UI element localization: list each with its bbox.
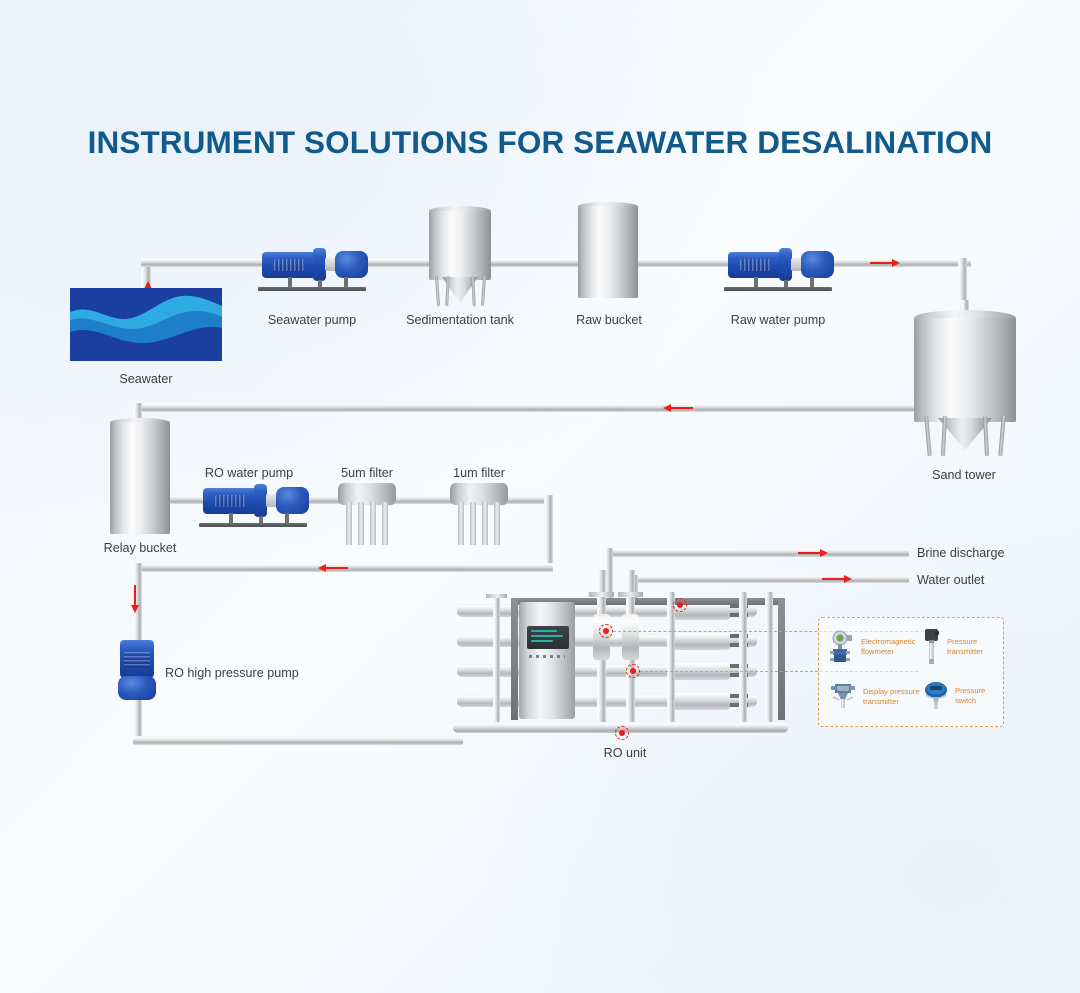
equipment-raw-bucket	[578, 202, 638, 298]
marker-ro-mid[interactable]	[626, 664, 640, 678]
bucket-body-icon	[578, 206, 638, 298]
ro-riser	[493, 594, 500, 724]
equipment-sand-tower	[912, 300, 1018, 458]
legend-item-pressure-transmitter[interactable]: Pressure transmitter	[923, 628, 983, 666]
equipment-label-relay-bucket: Relay bucket	[104, 541, 177, 555]
ro-riser	[667, 592, 675, 722]
output-label-water-outlet: Water outlet	[917, 573, 984, 587]
page-title: INSTRUMENT SOLUTIONS FOR SEAWATER DESALI…	[0, 124, 1080, 161]
filter-cartridges-icon	[455, 502, 504, 545]
ro-vessel-endcap	[670, 631, 732, 650]
legend-label-line2: transmitter	[947, 647, 983, 657]
arrow-filter-return	[318, 564, 348, 572]
equipment-ro-hp-pump	[118, 640, 158, 702]
tank-body-icon	[914, 318, 1016, 422]
tank-body-icon	[429, 211, 491, 280]
pressure-switch-icon	[923, 681, 949, 711]
arrow-sand-return	[663, 404, 693, 412]
marker-ro-top[interactable]	[673, 598, 687, 612]
pump-base	[258, 287, 366, 291]
output-label-brine-discharge: Brine discharge	[917, 546, 1005, 560]
equipment-label-sand-tower: Sand tower	[932, 468, 996, 482]
marker-ro-upper[interactable]	[599, 624, 613, 638]
pipe-hp-to-ro	[133, 736, 463, 745]
display-pressure-transmitter-icon	[829, 681, 857, 713]
equipment-label-ro-unit: RO unit	[604, 746, 647, 760]
tank-leg	[435, 276, 440, 306]
ro-riser	[739, 592, 747, 722]
arrow-raw-to-sand	[870, 259, 900, 267]
equipment-label-raw-water-pump: Raw water pump	[731, 313, 826, 327]
legend-label-line1: Pressure	[947, 637, 983, 647]
equipment-label-filter-1um: 1um filter	[453, 466, 505, 480]
equipment-filter-5um	[338, 483, 396, 545]
pump-motor-icon	[203, 488, 257, 514]
legend-label-line1: Pressure	[955, 686, 985, 696]
pipe-filter-down	[544, 495, 553, 568]
legend-item-electromagnetic-flowmeter[interactable]: Electromagnetic flowmeter	[829, 630, 915, 664]
pressure-transmitter-icon	[923, 628, 941, 666]
equipment-label-raw-bucket: Raw bucket	[576, 313, 642, 327]
legend-panel: Electromagnetic flowmeter Pressure trans…	[818, 617, 1004, 727]
pump-base	[199, 523, 307, 527]
legend-label-line2: flowmeter	[861, 647, 915, 657]
filter-cartridges-icon	[343, 502, 392, 545]
equipment-ro-unit	[455, 586, 795, 744]
equipment-raw-water-pump	[728, 246, 828, 291]
pipe-brine-discharge	[604, 548, 909, 557]
seawater-basin	[70, 288, 222, 361]
bucket-body-icon	[110, 422, 170, 534]
ro-display-screen	[527, 626, 569, 649]
legend-item-pressure-switch[interactable]: Pressure switch	[923, 681, 985, 711]
equipment-seawater-pump	[262, 246, 362, 291]
ro-vessel-endcap	[670, 691, 732, 710]
hp-pump-head-icon	[118, 676, 156, 700]
pipe-hp-pump-down	[133, 700, 142, 740]
equipment-label-filter-5um: 5um filter	[341, 466, 393, 480]
pump-head-icon	[276, 487, 309, 514]
pump-motor-icon	[728, 252, 782, 278]
hp-pump-body-icon	[120, 640, 154, 678]
ro-instrument-body	[622, 614, 639, 660]
pipe-sand-to-relay	[133, 403, 919, 412]
ro-riser	[765, 592, 773, 722]
electromagnetic-flowmeter-icon	[829, 630, 855, 664]
tank-leg	[481, 276, 486, 306]
equipment-label-seawater-pump: Seawater pump	[268, 313, 356, 327]
equipment-label-ro-hp-pump: RO high pressure pump	[165, 666, 299, 680]
equipment-sedimentation-tank	[428, 206, 492, 301]
equipment-relay-bucket	[110, 418, 170, 534]
ro-instrument-flange	[589, 592, 614, 597]
ro-indicator-lights	[529, 655, 565, 658]
diagram-canvas: INSTRUMENT SOLUTIONS FOR SEAWATER DESALI…	[0, 0, 1080, 993]
pump-base	[724, 287, 832, 291]
arrow-to-hp-pump	[131, 585, 139, 613]
tank-leg	[941, 416, 947, 456]
ro-instrument-flange	[618, 592, 643, 597]
seawater-waves-icon	[70, 288, 222, 361]
marker-ro-bottom[interactable]	[615, 726, 629, 740]
pump-head-icon	[801, 251, 834, 278]
arrow-brine	[798, 549, 828, 557]
ro-riser-flange	[486, 594, 507, 598]
legend-label-line1: Electromagnetic	[861, 637, 915, 647]
ro-frame-left	[511, 598, 518, 720]
equipment-label-sedimentation-tank: Sedimentation tank	[406, 313, 514, 327]
pump-motor-icon	[262, 252, 316, 278]
pipe-filter5-to-filter1	[392, 495, 458, 504]
ro-frame-right	[778, 598, 785, 720]
legend-label-line2: transmitter	[863, 697, 920, 707]
pipe-water-outlet	[630, 575, 909, 583]
legend-label-line1: Display pressure	[863, 687, 920, 697]
equipment-label-ro-water-pump: RO water pump	[205, 466, 293, 480]
equipment-label-seawater: Seawater	[119, 372, 172, 386]
tank-leg	[445, 276, 450, 306]
ro-control-panel[interactable]	[519, 602, 575, 719]
pump-head-icon	[335, 251, 368, 278]
equipment-filter-1um	[450, 483, 508, 545]
arrow-outlet	[822, 575, 852, 583]
legend-item-display-pressure-transmitter[interactable]: Display pressure transmitter	[829, 681, 920, 713]
legend-label-line2: switch	[955, 696, 985, 706]
equipment-ro-water-pump	[203, 482, 303, 527]
